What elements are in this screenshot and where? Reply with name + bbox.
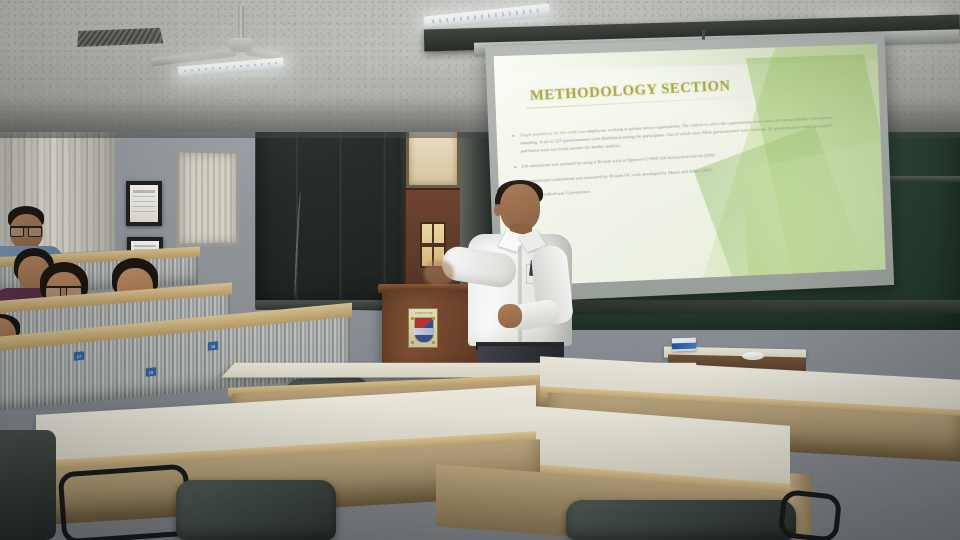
box-label-band — [672, 343, 696, 350]
glasses-icon — [10, 226, 42, 233]
ceiling-fan-rod — [238, 6, 244, 42]
chair-arm-frame[interactable] — [58, 464, 193, 540]
white-object-item[interactable] — [742, 352, 764, 360]
seat-number-placard: 19 — [146, 367, 156, 376]
seat-number-placard: 18 — [208, 341, 218, 350]
crest-band — [414, 328, 434, 335]
podium-crest-plaque: INSTITUTE CREST — [408, 308, 438, 348]
notice-paper — [130, 185, 158, 222]
crest-corner-dot — [432, 317, 435, 320]
ear — [494, 204, 502, 216]
seat-number-placard: 17 — [74, 351, 84, 360]
presenter — [448, 184, 598, 374]
crest-caption: INSTITUTE CREST — [411, 310, 437, 316]
classroom-scene: METHODOLOGY SECTION Target population fo… — [0, 0, 960, 540]
secondary-window-blinds — [176, 149, 239, 247]
chair-partial-left[interactable] — [0, 430, 56, 540]
chair-arm-frame[interactable] — [778, 489, 843, 540]
ceiling-fan-motor — [229, 38, 253, 52]
hand-right — [498, 304, 522, 328]
chair-foreground[interactable] — [176, 480, 336, 540]
crest-corner-dot — [411, 341, 414, 344]
glasses-icon — [45, 286, 82, 294]
chair-foreground[interactable] — [566, 500, 796, 540]
small-box-item[interactable] — [672, 338, 696, 352]
crest-corner-dot — [411, 317, 414, 320]
framed-notice-upper — [126, 181, 162, 226]
hand-left-motion-blur — [424, 260, 454, 286]
crest-corner-dot — [432, 341, 435, 344]
chalkboard-divider — [880, 176, 960, 182]
bullet-dot-icon — [514, 166, 516, 168]
bullet-dot-icon — [512, 135, 514, 137]
